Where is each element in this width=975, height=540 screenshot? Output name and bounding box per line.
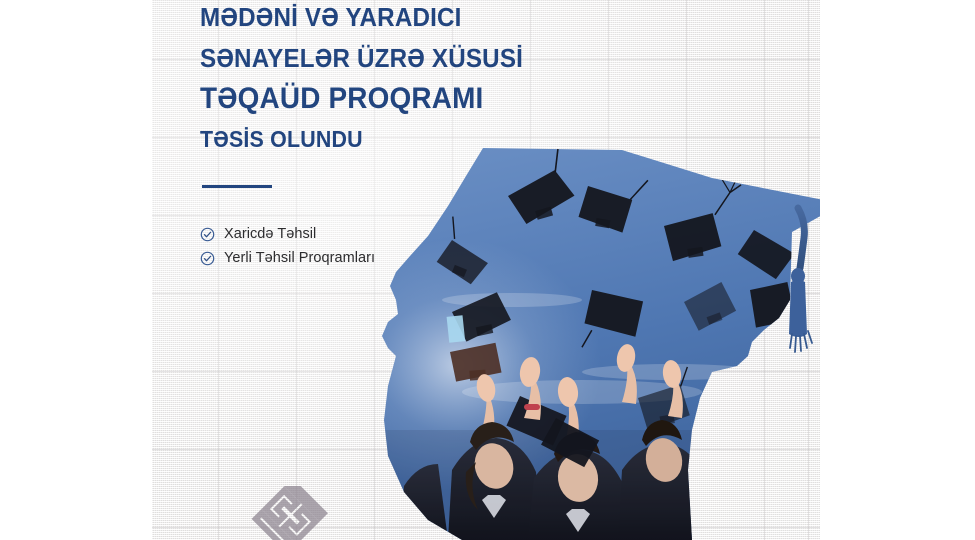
accent-rule (202, 185, 272, 188)
headline-line-2: SƏNAYELƏR ÜZRƏ XÜSUSİ (200, 43, 591, 73)
headline-line-4: TƏSİS OLUNDU (200, 126, 591, 152)
headline-block: MƏDƏNİ VƏ YARADICI SƏNAYELƏR ÜZRƏ XÜSUSİ… (200, 0, 620, 152)
list-item: Xaricdə Təhsil (200, 226, 375, 243)
list-item: Yerli Təhsil Proqramları (200, 250, 375, 267)
poster-artwork-panel: MƏDƏNİ VƏ YARADICI SƏNAYELƏR ÜZRƏ XÜSUSİ… (152, 0, 820, 540)
bullet-list: Xaricdə Təhsil Yerli Təhsil Proqramları (200, 226, 375, 274)
headline-line-1: MƏDƏNİ VƏ YARADICI (200, 2, 591, 32)
bullet-label: Yerli Təhsil Proqramları (224, 250, 375, 267)
check-circle-icon (200, 227, 215, 242)
headline-line-3: TƏQAÜD PROQRAMI (200, 82, 591, 115)
check-circle-icon (200, 251, 215, 266)
azerbaijani-knot-ornament (238, 486, 350, 540)
bullet-label: Xaricdə Təhsil (224, 226, 316, 243)
banner-canvas: MƏDƏNİ VƏ YARADICI SƏNAYELƏR ÜZRƏ XÜSUSİ… (0, 0, 975, 540)
